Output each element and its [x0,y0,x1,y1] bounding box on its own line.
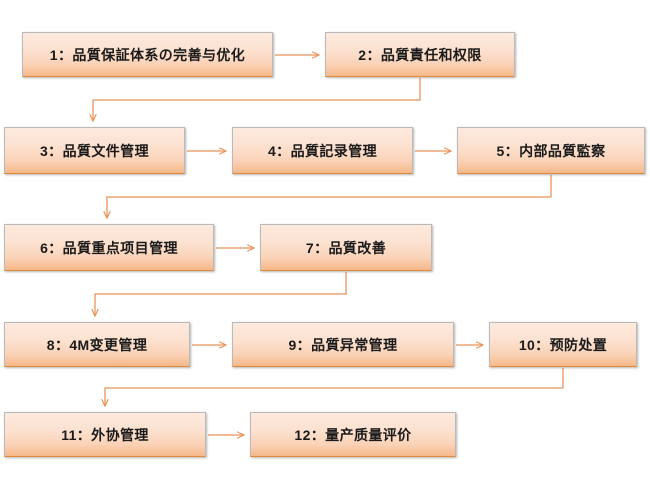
process-node-5[interactable]: 5：内部品質監察 [457,127,645,174]
process-node-12-label: 12：量产质量评价 [294,428,411,442]
process-node-6[interactable]: 6：品質重点项目管理 [4,224,214,271]
process-node-2-reflection: 2：品質責任和权限 [325,77,515,91]
connector-5-to-6 [107,175,551,218]
process-node-10-label: 10：预防处置 [519,338,607,352]
process-node-8-label: 8：4M变更管理 [47,338,147,352]
process-node-3[interactable]: 3：品質文件管理 [4,127,185,174]
process-node-12[interactable]: 12：量产质量评价 [250,412,456,457]
process-node-1-reflection: 1：品質保証体系の完善与优化 [22,77,273,91]
process-node-1-label: 1：品質保証体系の完善与优化 [50,48,245,62]
process-node-2-label: 2：品質責任和权限 [358,48,481,62]
process-node-11-label: 11：外协管理 [61,428,149,442]
process-node-3-reflection: 3：品質文件管理 [4,174,185,188]
flowchart-diagram: 1：品質保証体系の完善与优化 1：品質保証体系の完善与优化 2：品質責任和权限 … [0,0,650,486]
process-node-9[interactable]: 9：品質异常管理 [232,322,454,367]
process-node-8[interactable]: 8：4M变更管理 [4,322,190,367]
process-node-7-reflection: 7：品質改善 [260,271,432,285]
process-node-8-reflection: 8：4M变更管理 [4,367,190,381]
process-node-6-reflection: 6：品質重点项目管理 [4,271,214,285]
process-node-9-reflection: 9：品質异常管理 [232,367,454,381]
process-node-7-label: 7：品質改善 [306,241,386,255]
process-node-10-reflection: 10：预防处置 [489,367,637,381]
process-node-6-label: 6：品質重点项目管理 [40,241,178,255]
process-node-1[interactable]: 1：品質保証体系の完善与优化 [22,32,273,77]
connector-2-to-3 [93,78,420,121]
process-node-12-reflection: 12：量产质量评价 [250,457,456,471]
process-node-4-label: 4：品質記录管理 [268,144,377,158]
process-node-11-reflection: 11：外协管理 [4,457,206,471]
process-node-4[interactable]: 4：品質記录管理 [232,127,413,174]
process-node-3-label: 3：品質文件管理 [40,144,149,158]
process-node-10[interactable]: 10：预防处置 [489,322,637,367]
connector-10-to-11 [105,368,563,406]
process-node-4-reflection: 4：品質記录管理 [232,174,413,188]
process-node-2[interactable]: 2：品質責任和权限 [325,32,515,77]
process-node-9-label: 9：品質异常管理 [289,338,398,352]
process-node-11[interactable]: 11：外协管理 [4,412,206,457]
process-node-7[interactable]: 7：品質改善 [260,224,432,271]
connector-7-to-8 [95,272,346,316]
process-node-5-label: 5：内部品質監察 [497,144,606,158]
process-node-5-reflection: 5：内部品質監察 [457,174,645,188]
